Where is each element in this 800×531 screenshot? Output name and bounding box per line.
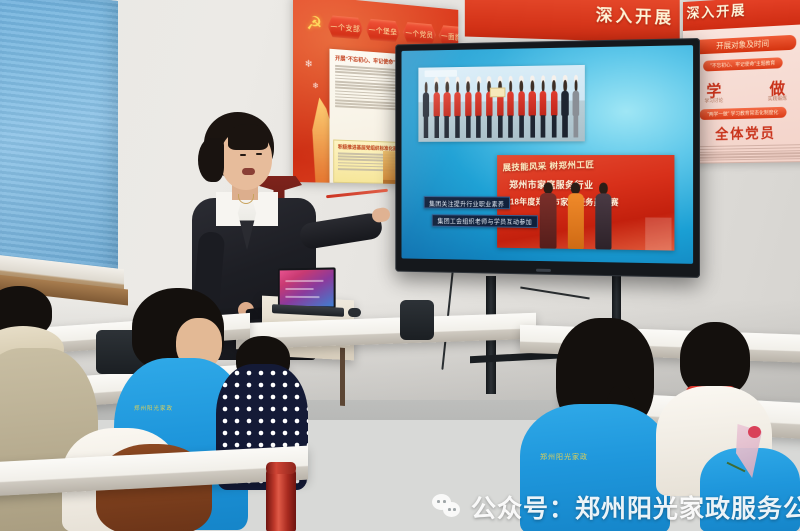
poster-right-pill-top: "不忘初心、牢记使命"主题教育: [703, 57, 782, 71]
slide-caption-1: 集团关注提升行业职业素养: [424, 196, 510, 209]
person-figure: [453, 80, 463, 137]
person-figure: [538, 79, 548, 137]
person-figure: [517, 79, 527, 137]
slogan-segment: 一个支部: [328, 15, 363, 40]
hammer-and-sickle-icon: ☭: [303, 13, 326, 37]
flat-screen-tv[interactable]: 展技能风采 树郑州工匠 郑州市家庭服务行业 2018年度郑州市家政服务员大赛 集…: [395, 38, 700, 278]
red-thermos[interactable]: [266, 468, 296, 531]
poster-right-body-text: [690, 144, 800, 164]
stage-person: [591, 183, 617, 250]
poster-right-headline: 深入开展: [687, 0, 747, 23]
slide-award-photo: 展技能风采 树郑州工匠 郑州市家庭服务行业 2018年度郑州市家政服务员大赛: [497, 155, 674, 251]
stand-leg: [340, 348, 345, 406]
computer-mouse[interactable]: [348, 308, 361, 317]
person-figure: [571, 78, 581, 137]
tv-bezel: 展技能风采 树郑州工匠 郑州市家庭服务行业 2018年度郑州市家政服务员大赛 集…: [395, 38, 700, 278]
presenter-hair-side: [198, 138, 224, 182]
person-figure: [560, 79, 570, 138]
window-blind: [0, 0, 118, 285]
slogan-segment: 一个堡垒: [366, 18, 400, 42]
photo-scene: ☭ 一个支部 一个堡垒 一个党员 一面旗帜 ❄ ❄ 开展"不忘初心、牢记使命"主…: [0, 0, 800, 531]
presenter-mouth: [242, 168, 255, 175]
watermark: 公众号：郑州阳光家政服务公司: [432, 489, 800, 525]
banner-line-1: 展技能风采 树郑州工匠: [502, 155, 669, 174]
stage-figures: [535, 183, 616, 250]
slide-photo-logo: [425, 70, 458, 77]
laptop-screen[interactable]: [280, 270, 334, 307]
wechat-icon: [432, 494, 462, 520]
person-figure: [527, 79, 537, 137]
poster-right-band: 开展对象及时间: [690, 35, 796, 55]
rose-bud: [748, 426, 761, 438]
dove-icon: ❄: [312, 81, 318, 90]
tv-screen[interactable]: 展技能风采 树郑州工匠 郑州市家庭服务行业 2018年度郑州市家政服务员大赛 集…: [401, 45, 693, 264]
poster-right-members: 全体党员: [683, 122, 800, 145]
poster-right-header: 深入开展: [683, 0, 800, 31]
slide-caption-2: 集团工会组织老师与学员互动参加: [432, 214, 538, 228]
tv-brand-logo: [536, 269, 551, 272]
person-figure: [421, 81, 431, 138]
sub-char-2: 实践锻炼: [768, 95, 787, 103]
party-poster-board-right: 深入开展 开展对象及时间 "不忘初心、牢记使命"主题教育 学 做 学习讨论 实践…: [683, 0, 800, 164]
person-figure: [474, 80, 484, 138]
audience-hair: [680, 322, 750, 396]
stage-person: [535, 183, 561, 249]
thermos-cap[interactable]: [266, 462, 296, 474]
presenter-fringe: [228, 124, 268, 150]
person-figure: [463, 80, 473, 138]
sub-char-1: 学习讨论: [705, 97, 724, 104]
slogan-segment: 一个党员: [403, 22, 436, 46]
poster-right-pill-bottom: "两学一做" 学习教育常态化制度化: [699, 107, 786, 120]
award-plaque: [490, 87, 505, 97]
stage-person: [563, 183, 589, 249]
person-figure: [506, 79, 516, 137]
poster-strip-headline: 深入开展: [596, 1, 674, 29]
dove-icon: ❄: [305, 59, 313, 70]
person-figure: [432, 80, 442, 137]
party-poster-strip: 深入开展: [465, 0, 680, 43]
person-figure: [549, 79, 559, 137]
laptop[interactable]: [278, 267, 336, 308]
chair-back: [400, 300, 434, 340]
vest-logo-text: 郑州阳光家政: [134, 404, 173, 412]
watermark-text: 公众号：郑州阳光家政服务公司: [471, 489, 800, 525]
person-figure: [442, 80, 452, 137]
stage-podium: [646, 218, 672, 251]
slide-group-photo: [418, 64, 584, 142]
vest-logo-text: 郑州阳光家政: [540, 452, 588, 462]
